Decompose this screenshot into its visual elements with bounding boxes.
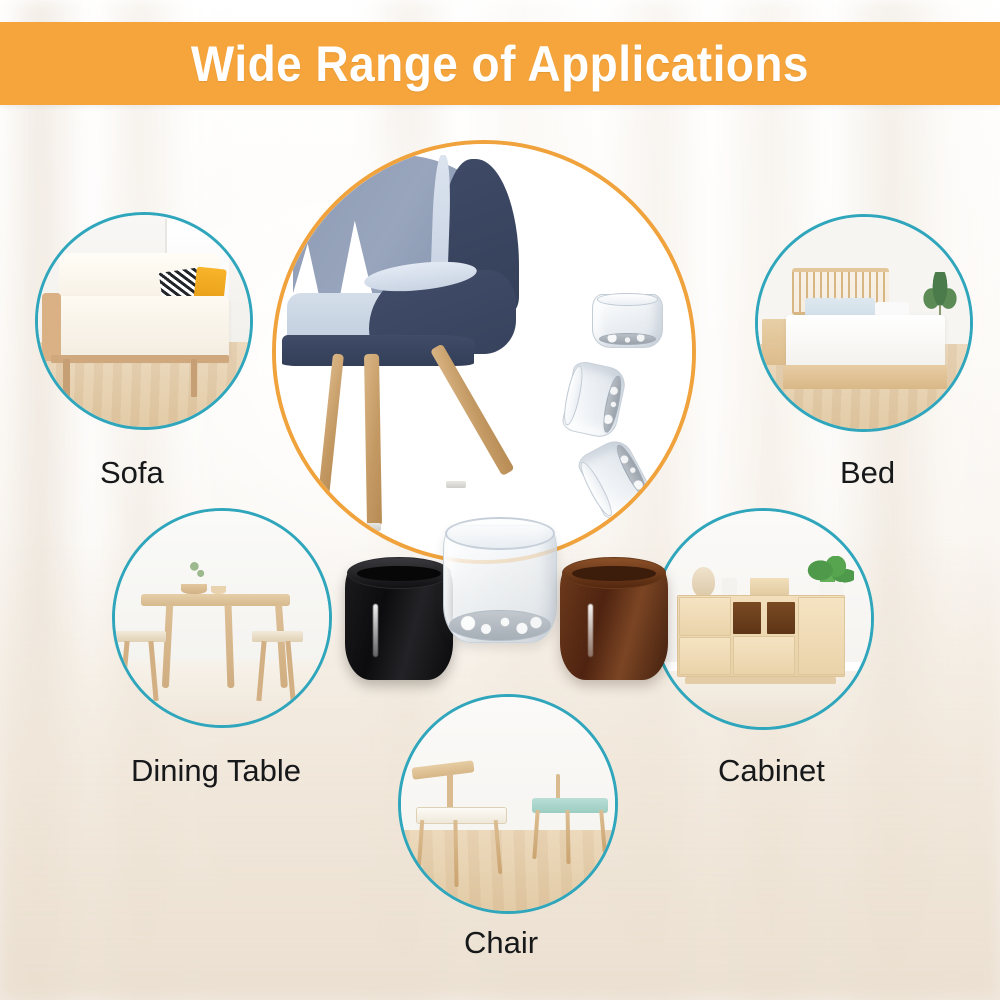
application-circle-sofa bbox=[35, 212, 253, 430]
sofa-scene bbox=[38, 215, 250, 427]
cap-rim bbox=[597, 293, 657, 307]
cap-body bbox=[592, 294, 663, 348]
cap-highlight bbox=[373, 604, 378, 657]
product-cap-brown bbox=[560, 565, 668, 680]
cap-felt-pad bbox=[599, 333, 657, 345]
hero-chair-leg-cap bbox=[330, 513, 350, 521]
application-label-bed: Bed bbox=[840, 455, 895, 491]
dining-tabletop bbox=[141, 594, 291, 606]
cap-rim bbox=[560, 364, 586, 426]
application-label-chair: Chair bbox=[464, 925, 538, 961]
hero-chair-leg bbox=[316, 354, 344, 515]
application-circle-bed bbox=[755, 214, 973, 432]
dining-bowl bbox=[181, 584, 207, 595]
bed-mattress bbox=[786, 315, 945, 370]
dining-chair-seat bbox=[115, 631, 166, 643]
cabinet-open-shelf bbox=[767, 602, 795, 634]
cabinet-open-shelf bbox=[733, 602, 761, 634]
header-banner: Wide Range of Applications bbox=[0, 22, 1000, 105]
dining-chair-leg bbox=[120, 641, 130, 701]
application-label-dining-table: Dining Table bbox=[131, 753, 301, 789]
chair-mint-seat-chair bbox=[525, 774, 615, 881]
dining-chair-seat bbox=[252, 631, 303, 643]
product-infographic: Wide Range of Applications Sofa bbox=[0, 0, 1000, 1000]
floating-silicone-cap-angled bbox=[575, 435, 656, 523]
cap-body bbox=[575, 435, 656, 523]
product-cap-black bbox=[345, 565, 453, 680]
chair-backrest bbox=[411, 760, 474, 779]
dining-chair-leg bbox=[285, 641, 295, 701]
floating-silicone-cap-tilted bbox=[560, 360, 628, 440]
cap-rim bbox=[445, 517, 554, 550]
cap-body bbox=[560, 360, 628, 440]
cap-felt-pad bbox=[612, 442, 650, 499]
hero-circle-chair-with-caps bbox=[272, 140, 696, 564]
dining-chair-leg bbox=[257, 641, 267, 701]
cap-felt-pad bbox=[449, 610, 552, 641]
bed-frame bbox=[783, 365, 946, 388]
chair-leg bbox=[453, 820, 459, 887]
hero-armchair bbox=[276, 144, 559, 527]
cap-rim bbox=[562, 557, 666, 589]
cabinet-door bbox=[679, 597, 731, 636]
floating-silicone-cap-upright bbox=[592, 294, 663, 348]
cabinet-door bbox=[798, 597, 846, 675]
cabinet-cup bbox=[722, 578, 737, 595]
cap-felt-pad bbox=[600, 374, 624, 433]
sofa-seat bbox=[46, 296, 228, 360]
chair-leg bbox=[416, 820, 425, 884]
chair-scene bbox=[401, 697, 615, 911]
cap-rim bbox=[347, 557, 451, 589]
cabinet-vase bbox=[692, 567, 716, 597]
chair-cream-seat-chair bbox=[410, 761, 521, 889]
sofa-leg bbox=[191, 359, 197, 397]
cabinet-base-rail bbox=[685, 677, 836, 683]
chair-leg bbox=[494, 820, 503, 874]
dining-chair-right bbox=[252, 631, 303, 704]
chair-backrest-post bbox=[447, 771, 453, 812]
hero-chair-leg bbox=[364, 354, 382, 526]
dining-chair-left bbox=[115, 631, 166, 704]
dining-plant-sprig bbox=[186, 558, 207, 586]
application-label-cabinet: Cabinet bbox=[718, 753, 825, 789]
dining-chair-leg bbox=[148, 641, 158, 701]
cabinet-door bbox=[733, 636, 796, 675]
chair-leg bbox=[566, 810, 571, 864]
cap-highlight bbox=[588, 604, 593, 657]
hero-chair-leg-cap bbox=[446, 481, 466, 489]
sofa-leg bbox=[63, 359, 69, 397]
chair-leg bbox=[599, 810, 606, 853]
sofa-armrest bbox=[42, 293, 61, 361]
chair-seat-mint bbox=[532, 798, 607, 813]
cabinet-door bbox=[679, 637, 731, 675]
banner-title: Wide Range of Applications bbox=[191, 35, 809, 93]
application-circle-chair bbox=[398, 694, 618, 914]
hero-scene bbox=[276, 144, 692, 560]
sofa-frame-rail bbox=[51, 355, 229, 363]
cap-rim bbox=[576, 459, 616, 519]
cabinet-box bbox=[750, 578, 789, 595]
application-label-sofa: Sofa bbox=[100, 455, 164, 491]
product-cap-transparent bbox=[443, 525, 557, 643]
hero-chair-leg-cap bbox=[361, 523, 381, 531]
bed-scene bbox=[758, 217, 970, 429]
chair-leg bbox=[532, 810, 539, 859]
